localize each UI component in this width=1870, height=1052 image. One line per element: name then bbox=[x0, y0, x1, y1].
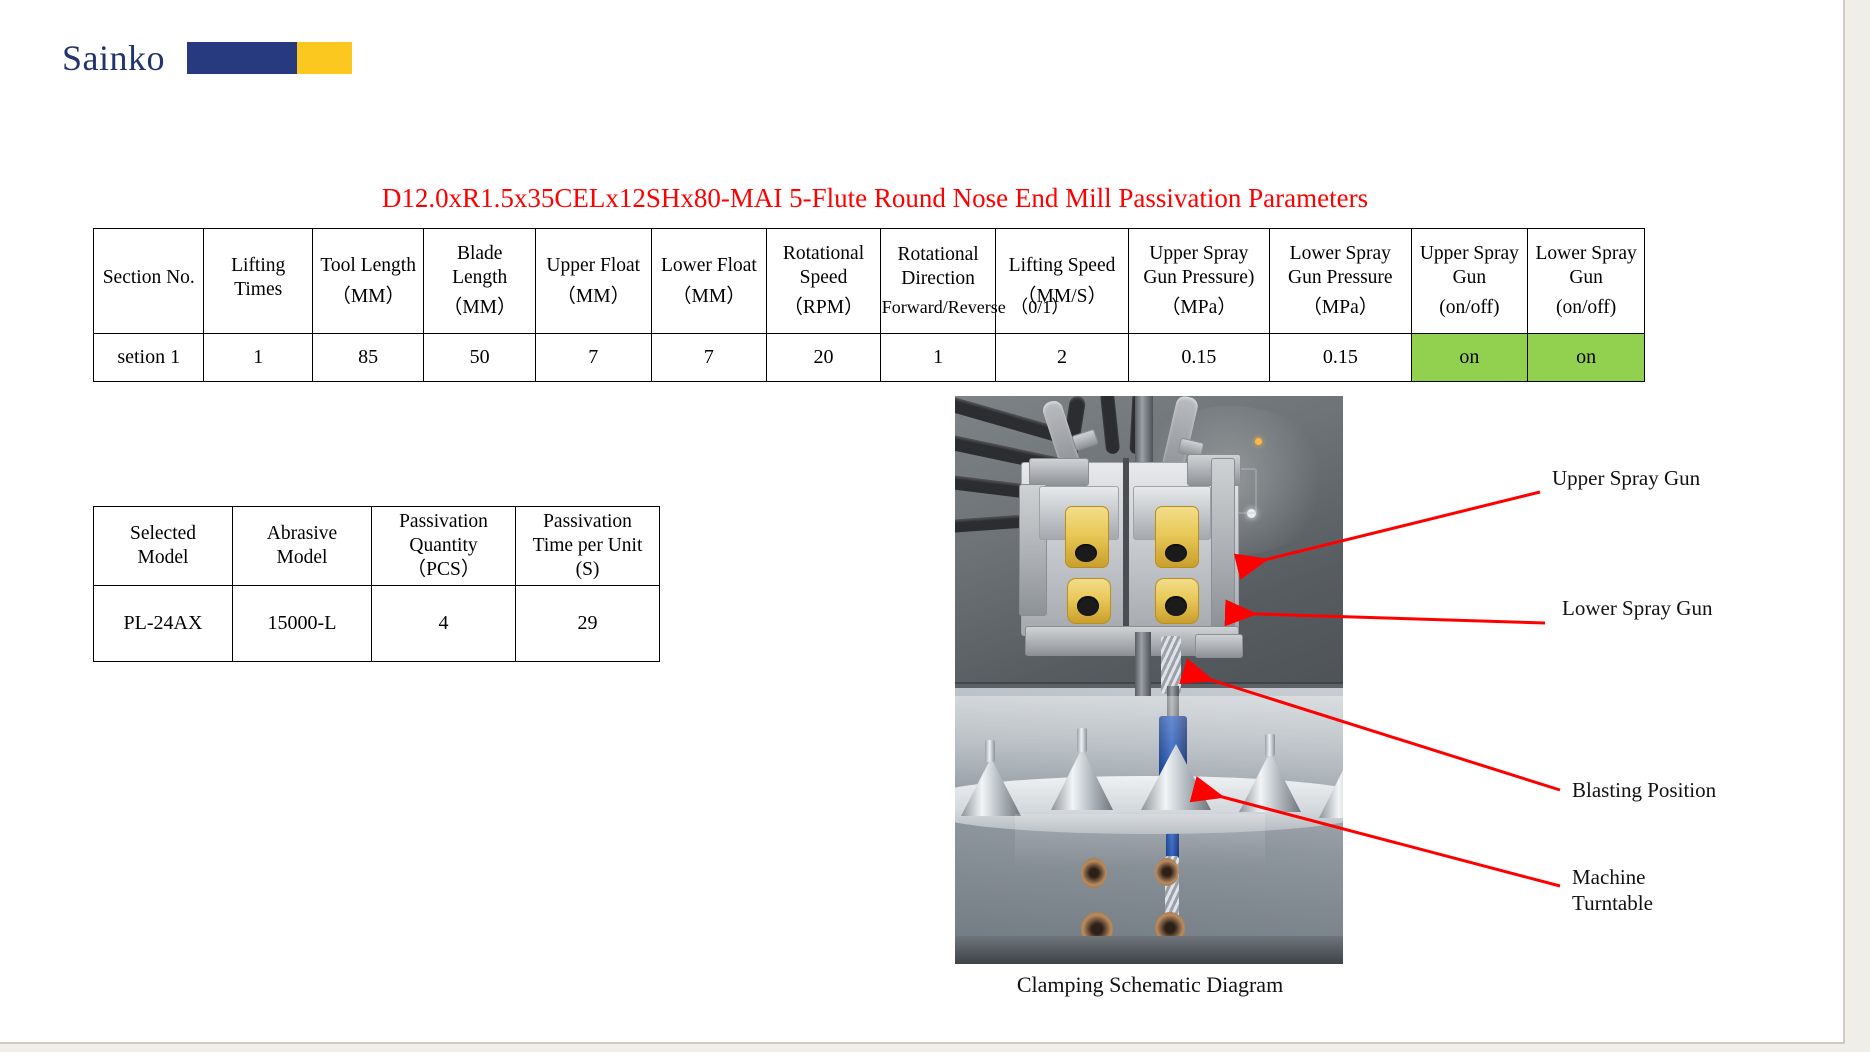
cell-lower-float: 7 bbox=[651, 334, 767, 382]
brand-logo: Sainko bbox=[62, 37, 352, 79]
col-header-name: Tool Length bbox=[314, 254, 423, 278]
spindle-shaft bbox=[1135, 396, 1153, 462]
col-header-name: LiftingTimes bbox=[205, 254, 310, 302]
col-header-name: RotationalSpeed bbox=[768, 242, 879, 290]
brand-name: Sainko bbox=[62, 37, 165, 79]
turntable-reflection bbox=[955, 696, 1343, 782]
deck-shadow-band bbox=[955, 936, 1343, 964]
col-header-unit: (on/off) bbox=[1529, 296, 1643, 320]
col-header-name: Upper SprayGun Pressure) bbox=[1130, 242, 1268, 290]
col-header-abrasive-model: AbrasiveModel bbox=[233, 507, 372, 586]
col-header-upper-spray-gun: Upper SprayGun (on/off) bbox=[1411, 229, 1528, 334]
col-header-name: BladeLength bbox=[425, 242, 534, 290]
col-header-unit: （MPa） bbox=[1271, 296, 1409, 320]
document-page: Sainko D12.0xR1.5x35CELx12SHx80-MAI 5-Fl… bbox=[0, 0, 1845, 1044]
cell-blade-length: 50 bbox=[424, 334, 536, 382]
cell-section-no: setion 1 bbox=[94, 334, 204, 382]
clamping-schematic-photo bbox=[955, 396, 1343, 964]
col-header-unit: （MM/S） bbox=[997, 285, 1126, 309]
cell-rotational-direction: 1 bbox=[880, 334, 996, 382]
cell-upper-float: 7 bbox=[535, 334, 651, 382]
cell-abrasive-model: 15000-L bbox=[233, 586, 372, 662]
turntable-cone-pin bbox=[985, 740, 995, 762]
col-header-name: Lower Float bbox=[653, 254, 766, 278]
table-row: PL-24AX 15000-L 4 29 bbox=[94, 586, 660, 662]
col-header-rotational-speed: RotationalSpeed （RPM） bbox=[767, 229, 881, 334]
col-header-upper-spray-gun-pressure: Upper SprayGun Pressure) （MPa） bbox=[1128, 229, 1269, 334]
col-header-selected-model: SelectedModel bbox=[94, 507, 233, 586]
col-header-lower-spray-gun-pressure: Lower SprayGun Pressure （MPa） bbox=[1270, 229, 1411, 334]
cell-selected-model: PL-24AX bbox=[94, 586, 233, 662]
photo-spark-light bbox=[1255, 438, 1262, 445]
col-header-unit: Forward/Reverse （0/1） bbox=[882, 297, 995, 319]
upper-nozzle-hole-left bbox=[1075, 544, 1097, 562]
cell-passivation-time: 29 bbox=[516, 586, 660, 662]
col-header-lower-float: Lower Float （MM） bbox=[651, 229, 767, 334]
col-header-name: RotationalDirection bbox=[882, 243, 995, 291]
cell-lifting-speed: 2 bbox=[996, 334, 1128, 382]
tool-shank bbox=[1135, 632, 1151, 696]
turntable-cone-pin bbox=[1077, 728, 1087, 752]
abrasive-model-table: SelectedModel AbrasiveModel PassivationQ… bbox=[93, 506, 660, 662]
col-header-name: Lower SprayGun Pressure bbox=[1271, 242, 1409, 290]
brand-bar-yellow bbox=[297, 42, 352, 74]
cell-passivation-quantity: 4 bbox=[372, 586, 516, 662]
table-header-row: SelectedModel AbrasiveModel PassivationQ… bbox=[94, 507, 660, 586]
col-header-name: Upper Float bbox=[537, 254, 650, 278]
lower-nozzle-hole-right bbox=[1165, 596, 1187, 616]
annotation-label-upper-spray-gun: Upper Spray Gun bbox=[1552, 466, 1700, 492]
annotation-label-machine-turntable: MachineTurntable bbox=[1572, 865, 1653, 916]
col-header-unit: （MM） bbox=[537, 285, 650, 309]
passivation-parameters-table: Section No. LiftingTimes Tool Length （MM… bbox=[93, 228, 1645, 382]
annotation-label-blasting-position: Blasting Position bbox=[1572, 778, 1716, 804]
col-header-blade-length: BladeLength （MM） bbox=[424, 229, 536, 334]
col-header-name: Section No. bbox=[95, 266, 202, 290]
col-header-section-no: Section No. bbox=[94, 229, 204, 334]
cell-lower-spray-gun-state: on bbox=[1528, 334, 1645, 382]
brand-bar-blue bbox=[187, 42, 297, 74]
brand-bars bbox=[187, 42, 352, 74]
upper-nozzle-hole-right bbox=[1165, 544, 1187, 562]
cell-lower-spray-gun-pressure: 0.15 bbox=[1270, 334, 1411, 382]
col-header-unit: (on/off) bbox=[1413, 296, 1527, 320]
col-header-unit: （MPa） bbox=[1130, 296, 1268, 320]
col-header-name: Lower SprayGun bbox=[1529, 242, 1643, 290]
cell-lifting-times: 1 bbox=[204, 334, 312, 382]
annotation-label-lower-spray-gun: Lower Spray Gun bbox=[1562, 596, 1712, 622]
cell-tool-length: 85 bbox=[312, 334, 424, 382]
col-header-passivation-quantity: PassivationQuantity（PCS） bbox=[372, 507, 516, 586]
col-header-rotational-direction: RotationalDirection Forward/Reverse （0/1… bbox=[880, 229, 996, 334]
spray-gun-base-right bbox=[1195, 634, 1243, 658]
col-header-upper-float: Upper Float （MM） bbox=[535, 229, 651, 334]
spray-gun-center-slot bbox=[1123, 458, 1129, 634]
deck-wear-mark bbox=[1081, 858, 1107, 888]
deck-reflection bbox=[1015, 814, 1265, 868]
table-header-row: Section No. LiftingTimes Tool Length （MM… bbox=[94, 229, 1645, 334]
col-header-lower-spray-gun: Lower SprayGun (on/off) bbox=[1528, 229, 1645, 334]
col-header-lifting-speed: Lifting Speed （MM/S） bbox=[996, 229, 1128, 334]
col-header-unit: （MM） bbox=[653, 285, 766, 309]
spray-gun-rail bbox=[1211, 458, 1235, 628]
cell-upper-spray-gun-state: on bbox=[1411, 334, 1528, 382]
col-header-name: Lifting Speed bbox=[997, 254, 1126, 278]
photo-caption: Clamping Schematic Diagram bbox=[900, 972, 1400, 998]
spray-gun-bracket bbox=[1029, 458, 1089, 486]
turntable-cone-pin bbox=[1265, 734, 1275, 756]
table-row: setion 1 1 85 50 7 7 20 1 2 0.15 0.15 on… bbox=[94, 334, 1645, 382]
col-header-unit: （MM） bbox=[314, 285, 423, 309]
deck-wear-mark bbox=[1155, 858, 1179, 886]
col-header-unit: （MM） bbox=[425, 296, 534, 320]
lower-nozzle-hole-left bbox=[1077, 596, 1099, 616]
col-header-tool-length: Tool Length （MM） bbox=[312, 229, 424, 334]
document-title: D12.0xR1.5x35CELx12SHx80-MAI 5-Flute Rou… bbox=[0, 183, 1750, 214]
cell-upper-spray-gun-pressure: 0.15 bbox=[1128, 334, 1269, 382]
col-header-unit: （RPM） bbox=[768, 296, 879, 320]
col-header-name: Upper SprayGun bbox=[1413, 242, 1527, 290]
cell-rotational-speed: 20 bbox=[767, 334, 881, 382]
col-header-passivation-time: PassivationTime per Unit(S) bbox=[516, 507, 660, 586]
col-header-lifting-times: LiftingTimes bbox=[204, 229, 312, 334]
